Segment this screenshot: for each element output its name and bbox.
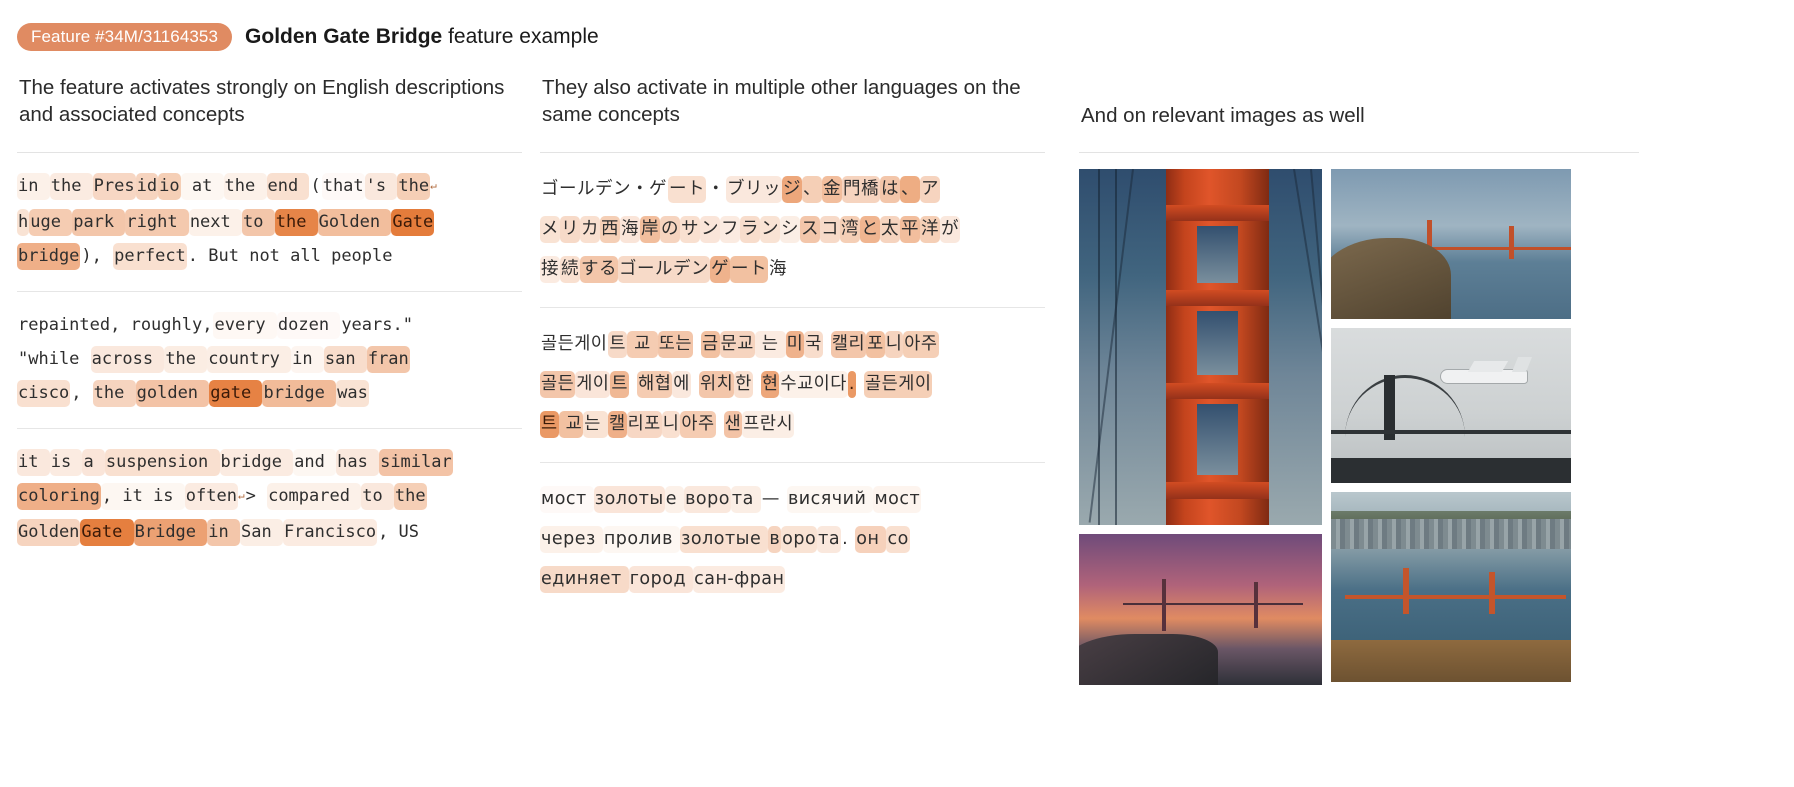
token-line: bridge), perfect. But not all people xyxy=(17,239,522,273)
activation-token: in xyxy=(17,173,50,200)
activation-token: Gate xyxy=(80,519,133,546)
activation-token: uge xyxy=(29,209,72,236)
token-line: единяет город сан-фран xyxy=(540,559,1045,599)
sample-russian: мост золотые ворота — висячий мостчерез … xyxy=(540,463,1045,617)
activation-token: ゴールデン xyxy=(618,256,710,283)
activation-token: 한 xyxy=(734,371,753,398)
token-line: cisco, the golden gate bridge was xyxy=(17,376,522,410)
activation-token xyxy=(753,371,761,398)
activation-token: in xyxy=(207,519,240,546)
activation-token: 골든 xyxy=(540,371,575,398)
activation-token: has xyxy=(336,449,379,476)
activation-token: park xyxy=(72,209,125,236)
activation-token: bridge xyxy=(220,449,294,476)
activation-token: the xyxy=(50,173,93,200)
activation-token: — xyxy=(761,486,787,513)
token-line: メリカ西海岸のサンフランシスコ湾と太平洋が xyxy=(540,209,1045,249)
activation-token: 門橋 xyxy=(842,176,880,203)
activation-token: 洋 xyxy=(920,216,940,243)
activation-token: compared xyxy=(267,483,361,510)
token-line: 트 교는 캘리포니아주 샌프란시 xyxy=(540,404,1045,444)
activation-token: の xyxy=(660,216,680,243)
activation-token: мост xyxy=(873,486,921,513)
activation-token: ・ xyxy=(706,176,726,203)
activation-token: 岸 xyxy=(640,216,660,243)
image-column-right xyxy=(1331,169,1571,685)
activation-token: suspension xyxy=(105,449,220,476)
activation-token xyxy=(823,331,831,358)
sample-presidio: in the Presidio at the end (that's the↵h… xyxy=(17,153,522,292)
activation-token: ート xyxy=(730,256,768,283)
activation-token: та xyxy=(731,486,761,513)
image-column-left xyxy=(1079,169,1322,685)
activation-token: シ xyxy=(780,216,800,243)
activation-token: 는 xyxy=(755,331,786,358)
activation-token: io xyxy=(158,173,180,200)
activation-token: ( xyxy=(309,173,321,200)
activation-token: через xyxy=(540,526,603,553)
column-images-heading: And on relevant images as well xyxy=(1081,74,1639,130)
activation-token: coloring xyxy=(17,483,101,510)
activation-token: 미 xyxy=(786,331,805,358)
activation-token: он xyxy=(855,526,886,553)
activation-token: end xyxy=(267,173,310,200)
line-wrap-icon: ↵ xyxy=(430,169,437,203)
activation-token: the xyxy=(93,380,136,407)
activation-token: ブリッ xyxy=(726,176,782,203)
column-english: The feature activates strongly on Englis… xyxy=(17,74,522,685)
activation-token: san xyxy=(324,346,367,373)
activation-token: та xyxy=(817,526,841,553)
activation-token: в xyxy=(768,526,781,553)
activation-token: id xyxy=(136,173,158,200)
activation-token: 캘 xyxy=(608,411,627,438)
activation-token: 아주 xyxy=(903,331,938,358)
activation-token: 海 xyxy=(768,256,788,283)
activation-token: 국 xyxy=(804,331,823,358)
activation-token: 트 xyxy=(610,371,629,398)
activation-token: золотые xyxy=(680,526,768,553)
activation-token: next xyxy=(189,209,242,236)
activation-token: 트 xyxy=(608,331,627,358)
activation-token: 샌 xyxy=(724,411,743,438)
page-title-bold: Golden Gate Bridge xyxy=(245,25,442,48)
activation-token: the xyxy=(275,209,318,236)
activation-token: Golden xyxy=(17,519,80,546)
activation-token: 湾 xyxy=(840,216,860,243)
activation-token: . xyxy=(841,526,855,553)
activation-token xyxy=(716,411,724,438)
activation-token: 、 xyxy=(900,176,920,203)
column-multilingual: They also activate in multiple other lan… xyxy=(540,74,1045,685)
activation-token: a xyxy=(82,449,104,476)
activation-token: оро xyxy=(781,526,817,553)
activation-token: ン xyxy=(700,216,720,243)
token-line: 接続するゴールデンゲート海 xyxy=(540,249,1045,289)
token-line: coloring, it is often↵> compared to the xyxy=(17,479,522,515)
activation-token: across xyxy=(91,346,165,373)
activation-token: 니 xyxy=(662,411,681,438)
activation-token: 에 xyxy=(672,371,691,398)
activation-token: to xyxy=(242,209,275,236)
activation-token: 金 xyxy=(822,176,842,203)
activation-token: が xyxy=(940,216,960,243)
activation-token: ゴールデン・ゲ xyxy=(540,176,668,203)
token-line: huge park right next to the Golden Gate xyxy=(17,205,522,239)
activation-token: 골든게이 xyxy=(540,331,608,358)
activation-token: often xyxy=(185,483,238,510)
activation-token: する xyxy=(580,256,618,283)
photo-bridge-sunset xyxy=(1079,534,1322,685)
activation-token: 트 xyxy=(540,411,559,438)
feature-example-page: Feature #34M/31164353 Golden Gate Bridge… xyxy=(0,0,1794,787)
columns-container: The feature activates strongly on Englis… xyxy=(0,56,1794,685)
english-sample-list: in the Presidio at the end (that's the↵h… xyxy=(17,153,522,567)
activation-token xyxy=(693,331,701,358)
activation-token: 게이 xyxy=(575,371,610,398)
activation-token xyxy=(856,371,864,398)
line-wrap-icon: ↵ xyxy=(238,479,245,513)
photo-bridge-from-headland xyxy=(1331,169,1571,319)
activation-token: . But not all people xyxy=(187,243,394,270)
activation-token: 프란시 xyxy=(742,411,794,438)
activation-token: and xyxy=(293,449,336,476)
column-images: And on relevant images as well xyxy=(1079,74,1639,685)
activation-token: perfect xyxy=(113,243,187,270)
activation-token: was xyxy=(336,380,369,407)
activation-token: the xyxy=(394,483,427,510)
activation-token: サ xyxy=(680,216,700,243)
activation-token: 교 xyxy=(559,411,584,438)
activation-token: リ xyxy=(560,216,580,243)
activation-token: in xyxy=(291,346,324,373)
activation-token: е xyxy=(665,486,684,513)
activation-token: 太 xyxy=(880,216,900,243)
page-title-rest: feature example xyxy=(442,25,598,48)
activation-token: that xyxy=(322,173,365,200)
token-line: repainted, roughly,every dozen years." xyxy=(17,308,522,342)
token-line: "while across the country in san fran xyxy=(17,342,522,376)
activation-token: воро xyxy=(684,486,731,513)
activation-token: カ xyxy=(580,216,600,243)
activation-token: со xyxy=(886,526,909,553)
column-english-heading: The feature activates strongly on Englis… xyxy=(19,74,522,130)
activation-token: cisco xyxy=(17,380,70,407)
sample-korean: 골든게이트 교 또는 금문교 는 미국 캘리포니아주골든게이트 해협에 위치한 … xyxy=(540,308,1045,463)
column-multilingual-heading: They also activate in multiple other lan… xyxy=(542,74,1045,130)
activation-token: at xyxy=(181,173,224,200)
image-grid xyxy=(1079,169,1639,685)
activation-token: сан-фран xyxy=(693,566,785,593)
activation-token: пролив xyxy=(603,526,680,553)
activation-token: ラ xyxy=(740,216,760,243)
activation-token: 위치 xyxy=(699,371,734,398)
token-line: 골든게이트 해협에 위치한 현수교이다. 골든게이 xyxy=(540,364,1045,404)
activation-token: repainted, roughly, xyxy=(17,312,213,339)
activation-token: 接 xyxy=(540,256,560,283)
activation-token: , US xyxy=(377,519,420,546)
activation-token: 해협 xyxy=(637,371,672,398)
activation-token: fran xyxy=(367,346,410,373)
activation-token: the xyxy=(224,173,267,200)
activation-token: bridge xyxy=(17,243,80,270)
activation-token: ジ xyxy=(782,176,802,203)
activation-token: is xyxy=(50,449,83,476)
activation-token: , xyxy=(70,380,92,407)
activation-token: Gate xyxy=(391,209,434,236)
activation-token: 리포 xyxy=(627,411,662,438)
activation-token: Pres xyxy=(93,173,136,200)
activation-token: висячий xyxy=(787,486,874,513)
activation-token: と xyxy=(860,216,880,243)
activation-token: 교 xyxy=(627,331,658,358)
activation-token: 西 xyxy=(600,216,620,243)
activation-token: フ xyxy=(720,216,740,243)
page-header: Feature #34M/31164353 Golden Gate Bridge… xyxy=(0,0,1794,56)
activation-token: Golden xyxy=(318,209,392,236)
activation-token: 골든게이 xyxy=(864,371,932,398)
activation-token: Francisco xyxy=(283,519,377,546)
activation-token: 수교이다 xyxy=(779,371,847,398)
sample-repainted: repainted, roughly,every dozen years.""w… xyxy=(17,292,522,429)
activation-token: San xyxy=(240,519,283,546)
activation-token: 平 xyxy=(900,216,920,243)
activation-token: the xyxy=(164,346,207,373)
activation-token: h xyxy=(17,209,29,236)
activation-token: 금 xyxy=(701,331,720,358)
token-line: мост золотые ворота — висячий мост xyxy=(540,479,1045,519)
activation-token: 문교 xyxy=(720,331,755,358)
activation-token: コ xyxy=(820,216,840,243)
sample-suspension: it is a suspension bridge and has simila… xyxy=(17,429,522,567)
activation-token: golden xyxy=(136,380,210,407)
token-line: in the Presidio at the end (that's the↵ xyxy=(17,169,522,205)
activation-token: > xyxy=(245,483,267,510)
activation-token: dozen xyxy=(277,312,340,339)
activation-token: ン xyxy=(760,216,780,243)
activation-token: 캘리 xyxy=(831,331,866,358)
activation-token: years." xyxy=(340,312,414,339)
activation-token: gate xyxy=(209,380,262,407)
token-line: it is a suspension bridge and has simila… xyxy=(17,445,522,479)
activation-token: country xyxy=(207,346,291,373)
activation-token: every xyxy=(213,312,276,339)
token-line: 골든게이트 교 또는 금문교 는 미국 캘리포니아주 xyxy=(540,324,1045,364)
activation-token: メ xyxy=(540,216,560,243)
feature-id-badge: Feature #34M/31164353 xyxy=(17,23,232,51)
photo-bridge-aerial-city xyxy=(1331,492,1571,682)
token-line: GoldenGate Bridge in San Francisco, US xyxy=(17,515,522,549)
activation-token: the xyxy=(397,173,430,200)
multilingual-sample-list: ゴールデン・ゲート・ブリッジ、金門橋は、アメリカ西海岸のサンフランシスコ湾と太平… xyxy=(540,153,1045,617)
page-title: Golden Gate Bridge feature example xyxy=(245,26,599,47)
token-line: ゴールデン・ゲート・ブリッジ、金門橋は、ア xyxy=(540,169,1045,209)
activation-token: Bridge xyxy=(134,519,208,546)
activation-token xyxy=(629,371,637,398)
activation-token: right xyxy=(125,209,188,236)
activation-token: 続 xyxy=(560,256,580,283)
activation-token: ア xyxy=(920,176,940,203)
photo-shuttle-over-bridge xyxy=(1331,328,1571,483)
activation-token xyxy=(691,371,699,398)
activation-token: 현 xyxy=(761,371,780,398)
activation-token: ート xyxy=(668,176,706,203)
token-line: через пролив золотые ворота. он со xyxy=(540,519,1045,559)
activation-token: 、 xyxy=(802,176,822,203)
activation-token: 또는 xyxy=(658,331,693,358)
activation-token: . xyxy=(848,371,856,398)
activation-token: 아주 xyxy=(680,411,715,438)
activation-token: 海 xyxy=(620,216,640,243)
activation-token: ゲ xyxy=(710,256,730,283)
activation-token: bridge xyxy=(262,380,336,407)
sample-japanese: ゴールデン・ゲート・ブリッジ、金門橋は、アメリカ西海岸のサンフランシスコ湾と太平… xyxy=(540,153,1045,308)
activation-token: 's xyxy=(365,173,398,200)
activation-token: 니 xyxy=(885,331,904,358)
activation-token: it xyxy=(17,449,50,476)
activation-token: to xyxy=(361,483,394,510)
activation-token: similar xyxy=(379,449,453,476)
activation-token: 는 xyxy=(583,411,608,438)
activation-token: ), xyxy=(80,243,113,270)
activation-token: , it is xyxy=(101,483,185,510)
activation-token: мост xyxy=(540,486,594,513)
column-images-rule xyxy=(1079,152,1639,153)
activation-token: "while xyxy=(17,346,91,373)
photo-bridge-tower-closeup xyxy=(1079,169,1322,525)
activation-token: 포 xyxy=(866,331,885,358)
activation-token: ス xyxy=(800,216,820,243)
activation-token: город xyxy=(629,566,693,593)
activation-token: は xyxy=(880,176,900,203)
activation-token: единяет xyxy=(540,566,629,593)
activation-token: золоты xyxy=(594,486,665,513)
